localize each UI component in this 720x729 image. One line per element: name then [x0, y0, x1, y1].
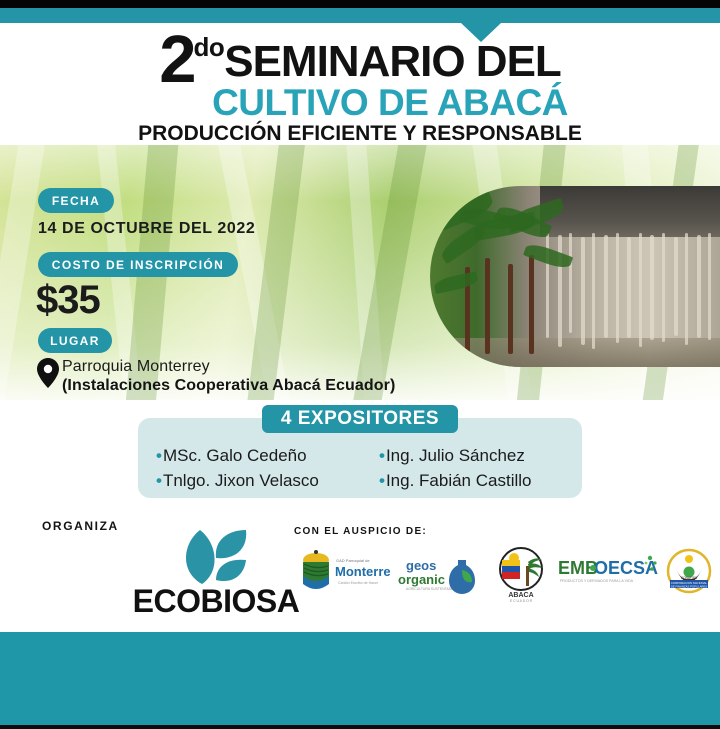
flyer-root: 2doSEMINARIO DEL CULTIVO DE ABACÁ PRODUC… — [0, 0, 720, 729]
speaker-name: Tnlgo. Jixon Velasco — [163, 471, 319, 490]
title-line-1: 2doSEMINARIO DEL — [0, 30, 720, 90]
list-item: •MSc. Galo Cedeño — [156, 443, 319, 468]
svg-text:OECSA: OECSA — [594, 558, 658, 578]
top-teal-bar — [0, 8, 720, 23]
sponsor-logo-conafips: CONAFIPS CORPORACION NACIONAL DE FINANZA… — [666, 546, 712, 604]
list-item: •Tnlgo. Jixon Velasco — [156, 468, 319, 493]
svg-text:GAD Parroquial de: GAD Parroquial de — [336, 558, 370, 563]
seminar-title-main: SEMINARIO DEL — [224, 37, 561, 86]
lugar-line-1: Parroquia Monterrey — [62, 358, 210, 376]
list-item: •Ing. Julio Sánchez — [379, 443, 531, 468]
title-line-2: CULTIVO DE ABACÁ — [0, 82, 720, 124]
bullet-icon: • — [156, 471, 162, 490]
svg-text:ABACA: ABACA — [508, 592, 533, 599]
fecha-badge: FECHA — [38, 188, 114, 213]
ground — [430, 338, 720, 367]
svg-text:DE FINANZAS POPULARES: DE FINANZAS POPULARES — [671, 585, 708, 589]
costo-badge: COSTO DE INSCRIPCIÓN — [38, 252, 238, 277]
ecobiosa-leaf-logo-icon — [158, 528, 268, 586]
svg-text:Cantón Escribo de Hacer: Cantón Escribo de Hacer — [338, 581, 379, 585]
header-title-block: 2doSEMINARIO DEL CULTIVO DE ABACÁ PRODUC… — [0, 30, 720, 142]
seminar-ordinal: do — [193, 32, 224, 62]
sponsor-logo-geos-organic: geos organic AGRICULTURA SUSTENTABLE — [398, 546, 484, 604]
svg-text:AGRICULTURA SUSTENTABLE: AGRICULTURA SUSTENTABLE — [406, 587, 456, 591]
roof-shade — [540, 186, 720, 237]
list-item: •Ing. Fabián Castillo — [379, 468, 531, 493]
lugar-line-2: (Instalaciones Cooperativa Abacá Ecuador… — [62, 377, 395, 395]
title-line-3: PRODUCCIÓN EFICIENTE Y RESPONSABLE — [0, 122, 720, 146]
bullet-icon: • — [379, 446, 385, 465]
sponsor-logos: GAD Parroquial de Monterrey Cantón Escri… — [294, 546, 706, 606]
svg-text:E C U A D O R: E C U A D O R — [510, 599, 533, 603]
ecobiosa-wordmark: ECOBIOSA — [106, 583, 326, 620]
speaker-name: Ing. Fabián Castillo — [386, 471, 532, 490]
bullet-icon: • — [156, 446, 162, 465]
sponsor-logo-emboecsa: EMB OECSA PRODUCTOS Y DERIVADOS PARA LA … — [558, 546, 660, 604]
svg-text:organic: organic — [398, 572, 445, 587]
abaca-fiber-drying-photo — [430, 186, 720, 367]
lugar-badge: LUGAR — [38, 328, 112, 353]
bullet-icon: • — [379, 471, 385, 490]
speakers-badge: 4 EXPOSITORES — [262, 405, 458, 433]
sponsor-logo-monterrey: GAD Parroquial de Monterrey Cantón Escri… — [294, 546, 390, 604]
top-black-bar — [0, 0, 720, 8]
sponsor-logo-abaca-ecuador: ABACA E C U A D O R — [490, 546, 552, 604]
speakers-column-right: •Ing. Julio Sánchez •Ing. Fabián Castill… — [379, 443, 531, 493]
speakers-column-left: •MSc. Galo Cedeño •Tnlgo. Jixon Velasco — [156, 443, 319, 493]
speaker-name: MSc. Galo Cedeño — [163, 446, 307, 465]
svg-text:PRODUCTOS Y DERIVADOS PARA LA: PRODUCTOS Y DERIVADOS PARA LA VIDA — [560, 579, 634, 583]
fecha-value: 14 DE OCTUBRE DEL 2022 — [38, 220, 255, 238]
svg-text:geos: geos — [406, 558, 436, 573]
bottom-black-bar — [0, 725, 720, 729]
location-pin-icon — [36, 358, 62, 390]
costo-value: $35 — [36, 278, 100, 323]
auspicio-label: CON EL AUSPICIO DE: — [294, 526, 427, 537]
speaker-name: Ing. Julio Sánchez — [386, 446, 525, 465]
svg-text:CONAFIPS: CONAFIPS — [681, 576, 697, 580]
footer-band: MÁS INFORMACIÓN 098 600 1361 - 098 9018 … — [0, 632, 720, 725]
svg-text:Monterrey: Monterrey — [335, 564, 390, 579]
organiza-label: ORGANIZA — [42, 519, 119, 533]
